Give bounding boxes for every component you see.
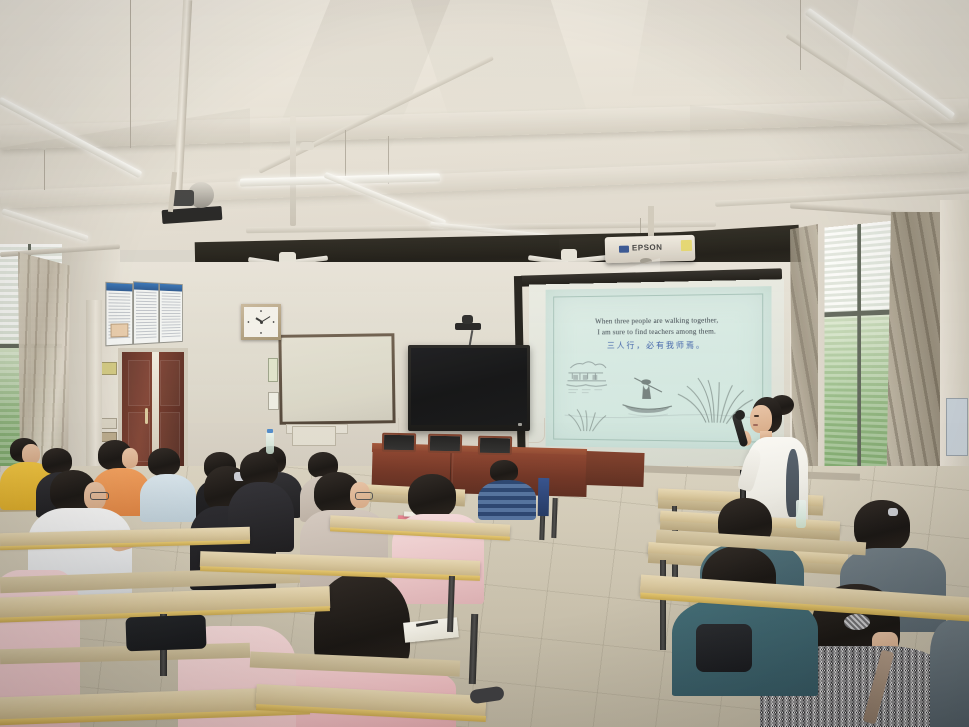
student-hair-clip-icon bbox=[888, 508, 898, 516]
ceiling-speaker-icon bbox=[300, 142, 314, 150]
wall-sign-1 bbox=[268, 358, 278, 382]
wall-clock bbox=[241, 304, 281, 340]
projector-vent-icon bbox=[681, 240, 692, 251]
student-glasses-icon bbox=[355, 492, 373, 500]
whiteboard-surface bbox=[281, 336, 392, 422]
notice-board-1[interactable] bbox=[105, 282, 133, 347]
chair-back-3 bbox=[478, 436, 512, 456]
bag-under-desk[interactable] bbox=[125, 615, 206, 652]
tv-camera-mount bbox=[455, 323, 481, 330]
notice-board-photo-icon bbox=[111, 323, 129, 337]
ceiling-beam-shadow-3 bbox=[632, 0, 859, 96]
notice-board-heading bbox=[134, 282, 158, 290]
door-panel-upper-2 bbox=[160, 360, 180, 406]
student-shirt bbox=[140, 474, 196, 522]
projector-mount-arm bbox=[648, 206, 654, 236]
student-shirt bbox=[930, 620, 969, 727]
notice-board-body bbox=[162, 293, 181, 340]
whiteboard bbox=[278, 333, 395, 425]
tv-camera-icon[interactable] bbox=[462, 315, 473, 324]
standing-folder[interactable] bbox=[538, 478, 550, 516]
door-handle-icon[interactable] bbox=[145, 408, 148, 424]
wall-sign-2 bbox=[268, 392, 279, 410]
projector-brand-mark-icon bbox=[619, 246, 629, 253]
notice-board-3[interactable] bbox=[159, 283, 183, 343]
water-bottle-right[interactable] bbox=[796, 500, 806, 528]
notice-board-heading bbox=[160, 284, 182, 292]
light-wire-6 bbox=[44, 150, 45, 190]
student-front-teal bbox=[672, 546, 822, 696]
door-panel-upper bbox=[128, 360, 150, 406]
presenter-face bbox=[750, 405, 772, 433]
chair-back-2 bbox=[428, 434, 462, 454]
light-wire-5 bbox=[800, 0, 801, 70]
notice-board-heading bbox=[106, 283, 132, 292]
ceiling-conduit-2 bbox=[290, 116, 296, 226]
water-bottle-mid[interactable] bbox=[266, 432, 274, 454]
chair-back-1 bbox=[382, 433, 416, 453]
notice-board-group bbox=[105, 280, 181, 347]
presenter-mouth-icon bbox=[753, 424, 758, 426]
light-wire-2 bbox=[345, 130, 346, 176]
wall-display-led-icon bbox=[518, 423, 522, 426]
notice-board-2[interactable] bbox=[133, 281, 159, 344]
student-hair bbox=[240, 452, 278, 486]
slide-text-chinese: 三人行，必有我师焉。 bbox=[555, 339, 761, 351]
student-hair bbox=[408, 474, 456, 518]
student-hair-tie-icon bbox=[844, 614, 870, 630]
clock-marks-icon bbox=[246, 309, 276, 335]
door-plaque-2 bbox=[100, 418, 117, 429]
projector-brand: EPSON bbox=[632, 243, 663, 253]
clock-face bbox=[244, 307, 278, 337]
slide-artwork-icon bbox=[565, 354, 755, 442]
backpack-front[interactable] bbox=[696, 624, 752, 672]
desk-leg-front-3 bbox=[660, 560, 666, 650]
wall-socket-box bbox=[292, 426, 336, 446]
water-bottle-mid-cap-icon bbox=[267, 429, 273, 433]
classroom-photo: EPSON When three people are walking toge… bbox=[0, 0, 969, 727]
wall-display[interactable] bbox=[408, 345, 530, 431]
fan-motor bbox=[561, 249, 577, 261]
student-hair bbox=[148, 448, 180, 476]
student-face bbox=[122, 448, 138, 468]
student-glasses-icon bbox=[90, 492, 109, 500]
tv-cable-right bbox=[528, 418, 545, 443]
right-wall-poster bbox=[946, 398, 968, 456]
slide-text-line2: I am sure to find teachers among them. bbox=[555, 326, 761, 338]
student-hair bbox=[490, 460, 518, 482]
notice-board-body bbox=[136, 292, 157, 341]
light-wire-1 bbox=[130, 0, 131, 148]
side-cabinet bbox=[585, 451, 644, 487]
wall-display-screen bbox=[411, 348, 527, 425]
presenter-eye-icon bbox=[754, 415, 759, 417]
